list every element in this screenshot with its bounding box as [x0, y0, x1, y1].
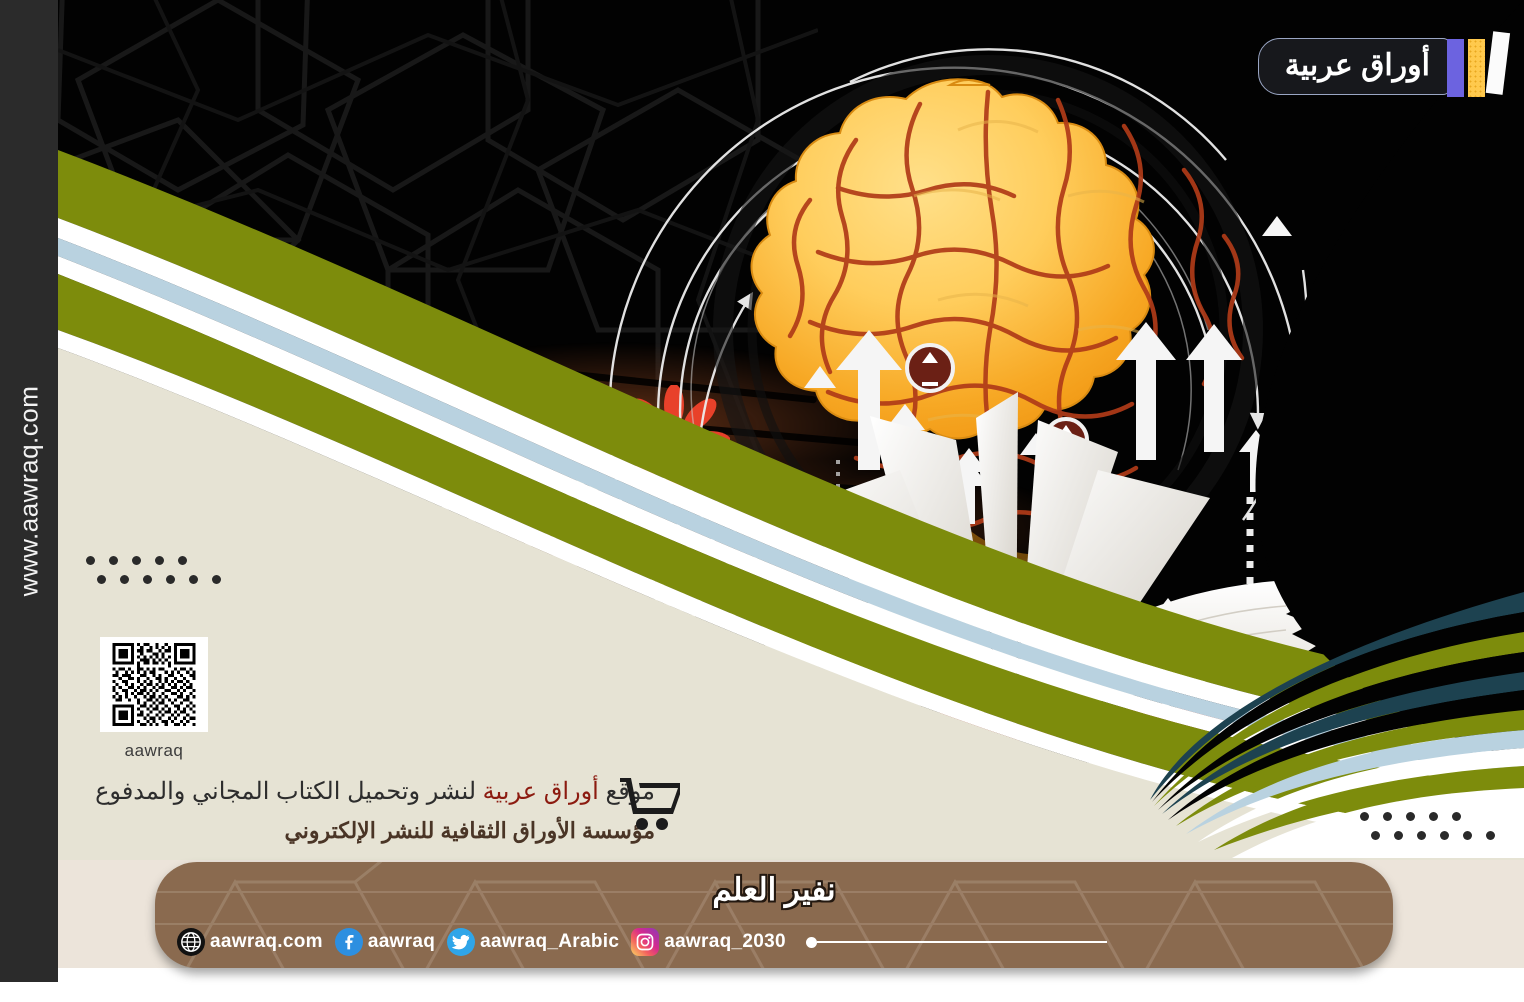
social-handle-website: aawraq.com: [210, 931, 323, 953]
social-link-twitter[interactable]: aawraq_Arabic: [447, 928, 625, 956]
globe-icon[interactable]: [177, 928, 205, 956]
bottom-bar: نفير العلم aawraq.com a: [155, 862, 1393, 968]
social-link-instagram[interactable]: aawraq_2030: [631, 928, 792, 956]
social-link-facebook[interactable]: aawraq: [335, 928, 441, 956]
instagram-icon[interactable]: [631, 928, 659, 956]
book-spine-gold: [1468, 39, 1485, 97]
caption-line-2: مؤسسة الأوراق الثقافية للنشر الإلكتروني: [95, 818, 655, 844]
rule-line: [817, 941, 1107, 943]
caption-block: موقع أوراق عربية لنشر وتحميل الكتاب المج…: [95, 777, 655, 844]
poster-canvas: www.aawraq.com: [0, 0, 1524, 1002]
logo-books-icon: [1447, 35, 1506, 97]
shopping-cart-icon: [618, 772, 680, 834]
bottom-white-strip: [58, 968, 1524, 1002]
page-title: نفير العلم: [155, 872, 1393, 908]
brand-name: أوراق عربية: [1258, 38, 1451, 95]
social-link-website[interactable]: aawraq.com: [177, 928, 329, 956]
caption-brand-highlight: أوراق عربية: [483, 778, 599, 805]
facebook-icon[interactable]: [335, 928, 363, 956]
qr-code-icon[interactable]: [100, 637, 208, 732]
dot-grid-decoration: [1360, 812, 1490, 846]
twitter-icon[interactable]: [447, 928, 475, 956]
rule-dot: [806, 937, 817, 948]
social-handle-facebook: aawraq: [368, 931, 435, 953]
dot-grid-decoration: [86, 556, 216, 590]
qr-code-block[interactable]: aawraq: [100, 637, 208, 761]
social-links: aawraq.com aawraq aawraq_Arabic: [177, 928, 1107, 956]
brain-book-scene: [58, 0, 1524, 880]
social-handle-instagram: aawraq_2030: [664, 931, 786, 953]
side-url-strip: www.aawraq.com: [0, 0, 58, 982]
social-handle-twitter: aawraq_Arabic: [480, 931, 619, 953]
book-spine-blue: [1447, 39, 1464, 97]
brand-logo[interactable]: أوراق عربية: [1258, 35, 1506, 97]
social-divider-rule: [806, 937, 1107, 948]
qr-code-label: aawraq: [100, 741, 208, 761]
website-url: www.aawraq.com: [14, 386, 45, 597]
up-arrow-badge-icon: [907, 345, 953, 391]
caption-line-1: موقع أوراق عربية لنشر وتحميل الكتاب المج…: [95, 777, 655, 806]
caption-suffix: لنشر وتحميل الكتاب المجاني والمدفوع: [95, 778, 483, 805]
